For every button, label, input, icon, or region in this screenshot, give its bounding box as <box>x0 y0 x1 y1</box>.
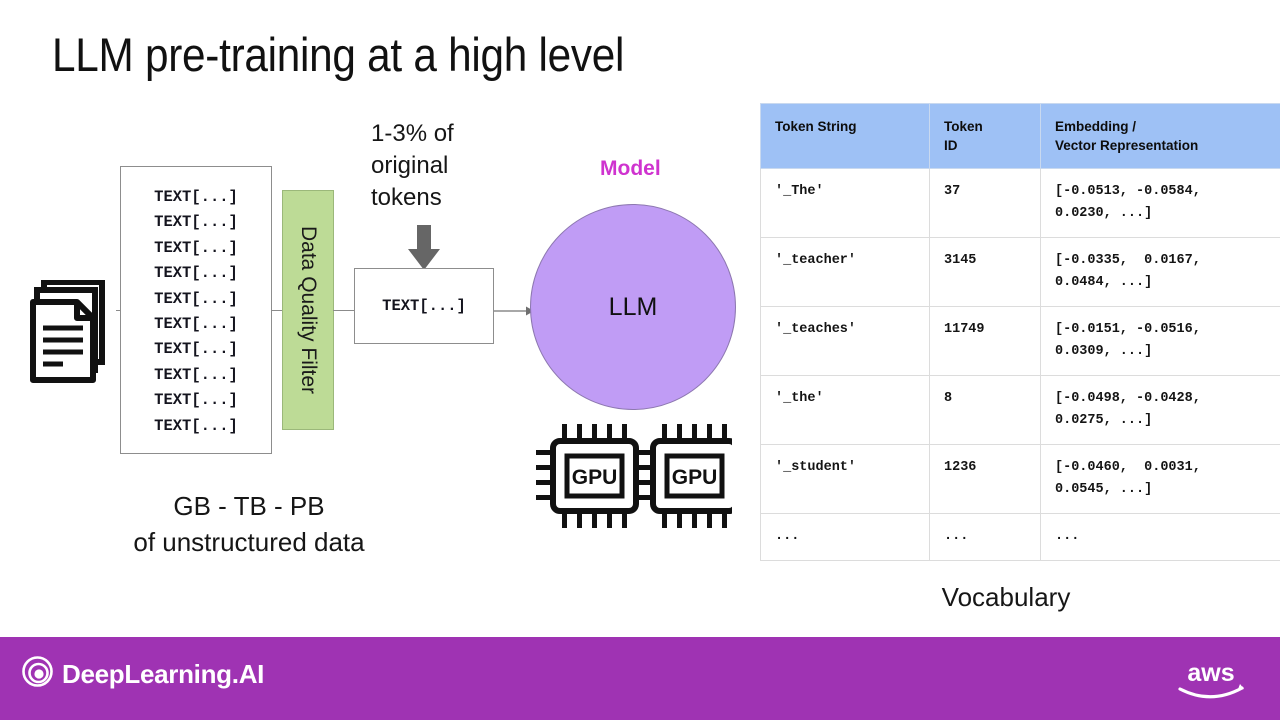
llm-label: LLM <box>609 293 658 322</box>
corpus-size-caption: GB - TB - PB of unstructured data <box>40 488 458 560</box>
raw-text-line: TEXT[...] <box>121 363 271 388</box>
documents-stack-icon <box>30 280 116 392</box>
raw-text-line: TEXT[...] <box>121 185 271 210</box>
column-header-embedding: Embedding / Vector Representation <box>1041 104 1280 169</box>
cell-token-id: 11749 <box>930 307 1041 376</box>
table-row: '_The' 37 [-0.0513, -0.0584, 0.0230, ...… <box>761 169 1280 238</box>
raw-text-line: TEXT[...] <box>121 414 271 439</box>
cell-token-string: '_teaches' <box>761 307 930 376</box>
data-quality-filter-label: Data Quality Filter <box>296 226 320 394</box>
raw-text-line: TEXT[...] <box>121 236 271 261</box>
raw-text-line: TEXT[...] <box>121 287 271 312</box>
vocabulary-caption: Vocabulary <box>760 582 1252 613</box>
column-header-token-string: Token String <box>761 104 930 169</box>
svg-text:aws: aws <box>1187 659 1234 687</box>
svg-text:GPU: GPU <box>672 466 718 489</box>
connector-filter-to-filtered <box>333 310 355 311</box>
data-quality-filter-box: Data Quality Filter <box>282 190 334 430</box>
raw-text-line: TEXT[...] <box>121 261 271 286</box>
deeplearning-wordmark: DeepLearning.AI <box>62 659 264 690</box>
table-header-row: Token String Token ID Embedding / Vector… <box>761 104 1280 169</box>
vocabulary-table: Token String Token ID Embedding / Vector… <box>760 103 1280 561</box>
cell-token-string: '_teacher' <box>761 238 930 307</box>
cell-token-id: ... <box>930 514 1041 561</box>
raw-text-line: TEXT[...] <box>121 210 271 235</box>
corpus-size-line2: of unstructured data <box>40 524 458 560</box>
filtered-corpus-box: TEXT[...] <box>354 268 494 344</box>
table-row: '_teaches' 11749 [-0.0151, -0.0516, 0.03… <box>761 307 1280 376</box>
cell-embedding: [-0.0513, -0.0584, 0.0230, ...] <box>1041 169 1280 238</box>
svg-text:GPU: GPU <box>572 466 618 489</box>
aws-logo: aws <box>1174 659 1248 701</box>
cell-token-string: '_student' <box>761 445 930 514</box>
llm-circle: LLM <box>530 204 736 410</box>
table-row: '_teacher' 3145 [-0.0335, 0.0167, 0.0484… <box>761 238 1280 307</box>
table-row: '_student' 1236 [-0.0460, 0.0031, 0.0545… <box>761 445 1280 514</box>
cell-token-id: 8 <box>930 376 1041 445</box>
cell-embedding: ... <box>1041 514 1280 561</box>
cell-token-id: 37 <box>930 169 1041 238</box>
raw-text-line: TEXT[...] <box>121 337 271 362</box>
cell-token-id: 1236 <box>930 445 1041 514</box>
cell-embedding: [-0.0335, 0.0167, 0.0484, ...] <box>1041 238 1280 307</box>
raw-text-line: TEXT[...] <box>121 388 271 413</box>
table-row: ... ... ... <box>761 514 1280 561</box>
cell-token-id: 3145 <box>930 238 1041 307</box>
footer-bar: DeepLearning.AI aws <box>0 637 1280 720</box>
cell-embedding: [-0.0460, 0.0031, 0.0545, ...] <box>1041 445 1280 514</box>
table-row: '_the' 8 [-0.0498, -0.0428, 0.0275, ...] <box>761 376 1280 445</box>
gpu-cluster-icons: GPU GPU <box>532 424 732 528</box>
slide-canvas: LLM pre-training at a high level TEXT[..… <box>0 0 1280 720</box>
cell-embedding: [-0.0498, -0.0428, 0.0275, ...] <box>1041 376 1280 445</box>
cell-token-string: '_the' <box>761 376 930 445</box>
down-arrow-icon <box>404 225 444 270</box>
cell-token-string: '_The' <box>761 169 930 238</box>
corpus-size-line1: GB - TB - PB <box>40 488 458 524</box>
percent-retained-label: 1-3% of original tokens <box>371 118 486 214</box>
cell-embedding: [-0.0151, -0.0516, 0.0309, ...] <box>1041 307 1280 376</box>
filtered-text-line: TEXT[...] <box>382 297 466 315</box>
raw-corpus-box: TEXT[...] TEXT[...] TEXT[...] TEXT[...] … <box>120 166 272 454</box>
model-label: Model <box>600 157 661 181</box>
raw-text-line: TEXT[...] <box>121 312 271 337</box>
cell-token-string: ... <box>761 514 930 561</box>
deeplearning-spiral-logo <box>22 656 53 692</box>
deeplearning-brand: DeepLearning.AI <box>22 656 264 692</box>
page-title: LLM pre-training at a high level <box>52 26 624 84</box>
column-header-token-id: Token ID <box>930 104 1041 169</box>
